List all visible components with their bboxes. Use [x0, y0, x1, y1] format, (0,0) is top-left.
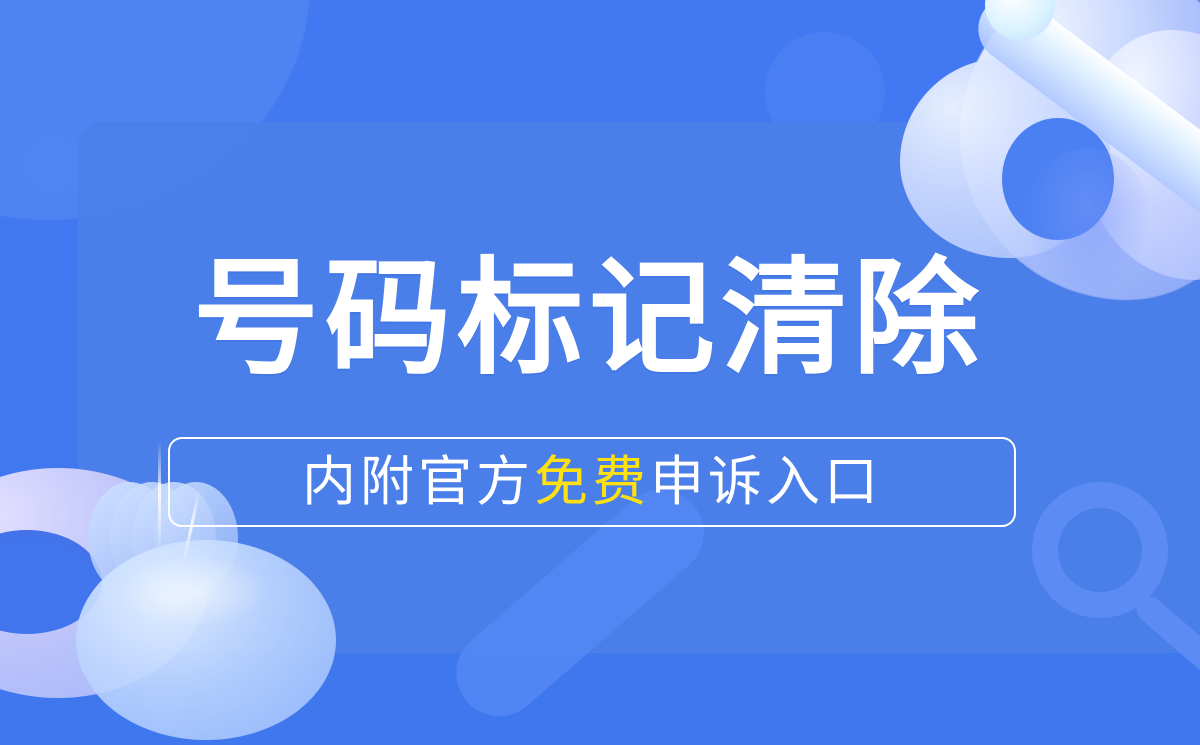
- subtitle-highlight: 免费: [534, 452, 650, 512]
- subtitle-outline-box: 内附官方免费申诉入口: [168, 437, 1016, 527]
- subtitle-suffix: 申诉入口: [650, 452, 882, 512]
- small-circle-icon: [22, 133, 84, 195]
- promo-banner: 号码标记清除 内附官方免费申诉入口: [0, 0, 1200, 745]
- headline-title: 号码标记清除: [193, 252, 985, 386]
- subtitle-text: 内附官方免费申诉入口: [170, 455, 1014, 509]
- subtitle-prefix: 内附官方: [302, 452, 534, 512]
